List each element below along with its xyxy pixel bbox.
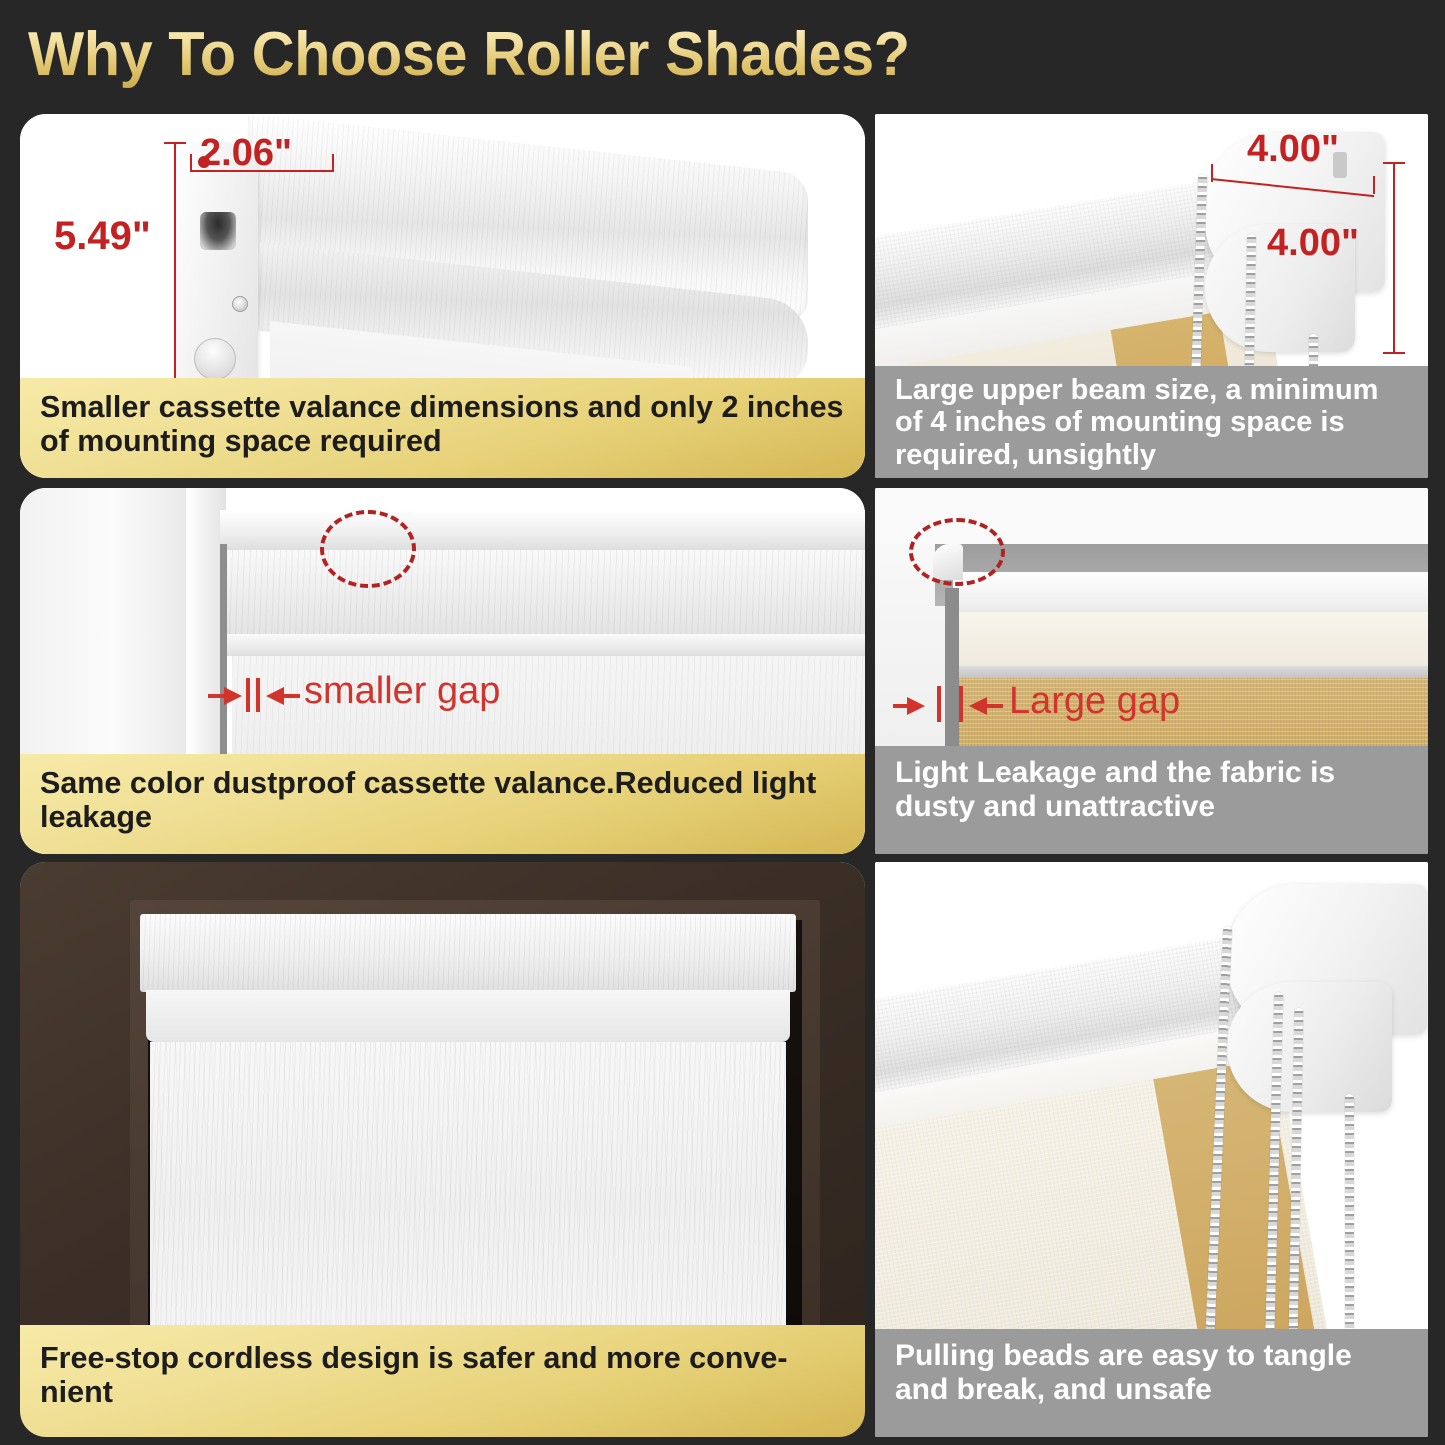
comparison-grid: 5.49" 2.06" Smaller cassette valance dim… (0, 108, 1445, 1445)
panel-caption: Light Leakage and the fabric is dusty an… (875, 746, 1428, 854)
beam-width-tick-left (1211, 164, 1213, 182)
fabric-cream (959, 612, 1428, 668)
panel-caption: Same color dustproof cassette valance.Re… (20, 754, 865, 854)
valance-lip (146, 990, 790, 1042)
cassette-bar (226, 634, 865, 656)
width-dimension-label: 2.06" (200, 132, 292, 175)
endcap-knob (194, 338, 236, 380)
beam-height-tick-bottom (1383, 352, 1405, 354)
gap-arrow-left (266, 687, 284, 705)
window-head-trim (220, 510, 865, 552)
cassette-valance (226, 550, 865, 636)
panel-caption: Free-stop cordless design is safer and m… (20, 1325, 865, 1437)
gap-arrow-left (969, 697, 987, 715)
gap-arrow-tail-right (284, 694, 300, 698)
gap-bar-right (256, 678, 260, 712)
gap-label: smaller gap (304, 670, 500, 713)
height-dimension-label: 5.49" (54, 214, 151, 259)
panel-good-valance-dimensions[interactable]: 5.49" 2.06" Smaller cassette valance dim… (20, 114, 865, 478)
bracket-lower (1227, 982, 1392, 1112)
highlight-circle (320, 510, 416, 588)
width-tick-left (190, 154, 192, 172)
endcap-screw (232, 296, 248, 312)
cassette-valance (140, 914, 796, 992)
page-header: Why To Choose Roller Shades? (0, 0, 1445, 108)
gap-arrow-tail-right (987, 704, 1003, 708)
gap-bar-left (246, 678, 250, 712)
endcap-slot (200, 212, 236, 250)
gap-bar-right (959, 686, 963, 722)
beam-height-tick-top (1383, 162, 1405, 164)
gap-arrow-right (224, 687, 242, 705)
beam-width-tick-right (1373, 176, 1375, 194)
highlight-circle (909, 518, 1005, 586)
valance-endcap (176, 142, 258, 402)
beam-width-label: 4.00" (1247, 128, 1339, 171)
fabric-sill (959, 666, 1428, 678)
width-tick-right (332, 154, 334, 172)
panel-bad-large-gap[interactable]: Large gap Light Leakage and the fabric i… (875, 488, 1428, 854)
shade-fabric (150, 1042, 786, 1360)
panel-caption: Large upper beam size, a minimum of 4 in… (875, 366, 1428, 478)
gap-bar-left (937, 686, 941, 722)
panel-good-small-gap[interactable]: smaller gap Same color dustproof cassett… (20, 488, 865, 854)
side-gap (220, 544, 227, 776)
gap-label: Large gap (1009, 680, 1180, 723)
gap-arrow-right (907, 697, 925, 715)
panel-bad-beam-dimensions[interactable]: 4.00" 4.00" Large upper beam size, a min… (875, 114, 1428, 478)
panel-caption: Pulling beads are easy to tangle and bre… (875, 1329, 1428, 1437)
page-title: Why To Choose Roller Shades? (28, 19, 910, 90)
panel-caption: Smaller cassette valance dimensions and … (20, 378, 865, 478)
panel-good-cordless[interactable]: Free-stop cordless design is safer and m… (20, 862, 865, 1437)
beam-height-label: 4.00" (1267, 222, 1359, 265)
height-tick-top (164, 142, 186, 144)
panel-bad-beads[interactable]: Pulling beads are easy to tangle and bre… (875, 862, 1428, 1437)
height-dimension-line (174, 142, 176, 404)
beam-height-line (1393, 162, 1395, 354)
